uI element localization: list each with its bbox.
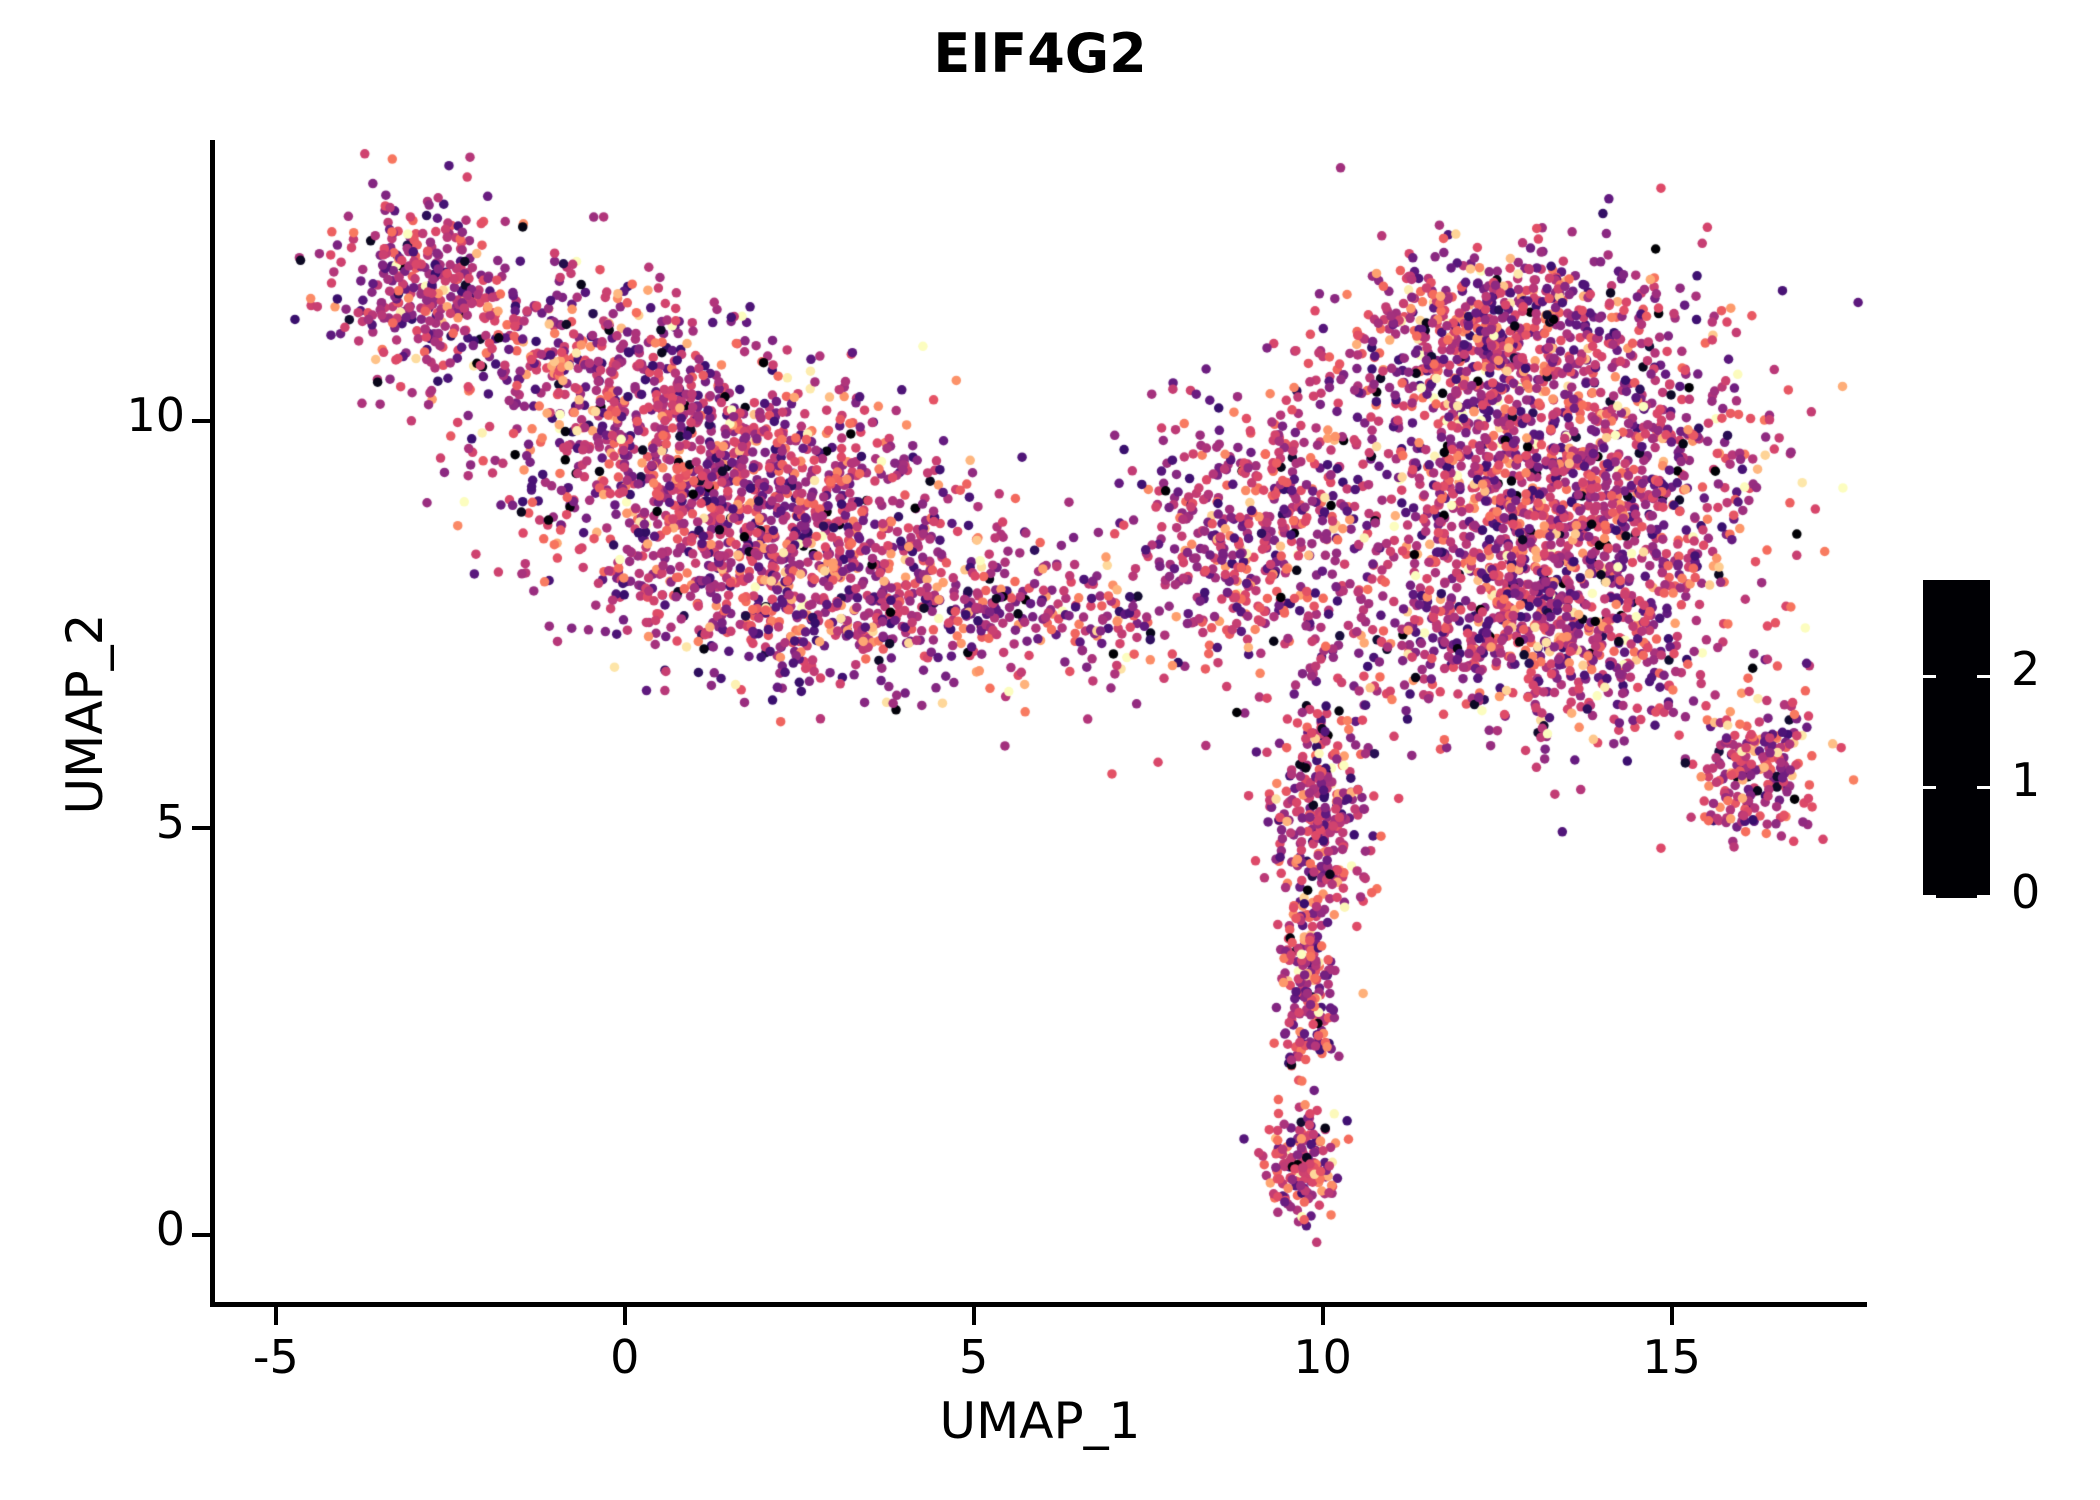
x-tick-label: 10: [1233, 1330, 1413, 1384]
scatter-plot-points: [213, 140, 1867, 1304]
colorbar-tick-mark: [1923, 786, 1936, 789]
colorbar-tick-label: 1: [2011, 753, 2040, 807]
colorbar-tick-label: 2: [2011, 642, 2040, 696]
x-tick-label: 5: [884, 1330, 1064, 1384]
y-tick-mark: [192, 419, 210, 423]
colorbar-gradient: [1923, 580, 1990, 898]
colorbar-tick-mark: [1977, 675, 1990, 678]
y-tick-mark: [192, 1233, 210, 1237]
y-axis-label: UMAP_2: [56, 414, 114, 1014]
x-tick-mark: [972, 1307, 976, 1325]
y-tick-label: 0: [0, 1202, 185, 1256]
colorbar-tick-mark: [1977, 895, 1990, 898]
x-tick-label: -5: [186, 1330, 366, 1384]
y-axis-spine: [210, 140, 215, 1307]
x-axis-spine: [210, 1302, 1867, 1307]
y-tick-mark: [192, 826, 210, 830]
x-tick-mark: [1321, 1307, 1325, 1325]
x-axis-label: UMAP_1: [540, 1392, 1540, 1450]
colorbar-tick-mark: [1923, 895, 1936, 898]
page-title: EIF4G2: [0, 22, 2080, 85]
figure-canvas: EIF4G2 -5051015 0510 UMAP_1 UMAP_2 012: [0, 0, 2100, 1500]
colorbar-tick-mark: [1923, 675, 1936, 678]
x-tick-mark: [274, 1307, 278, 1325]
x-tick-label: 0: [535, 1330, 715, 1384]
colorbar-tick-mark: [1977, 786, 1990, 789]
colorbar-tick-label: 0: [2011, 865, 2040, 919]
x-tick-label: 15: [1582, 1330, 1762, 1384]
x-tick-mark: [623, 1307, 627, 1325]
x-tick-mark: [1670, 1307, 1674, 1325]
